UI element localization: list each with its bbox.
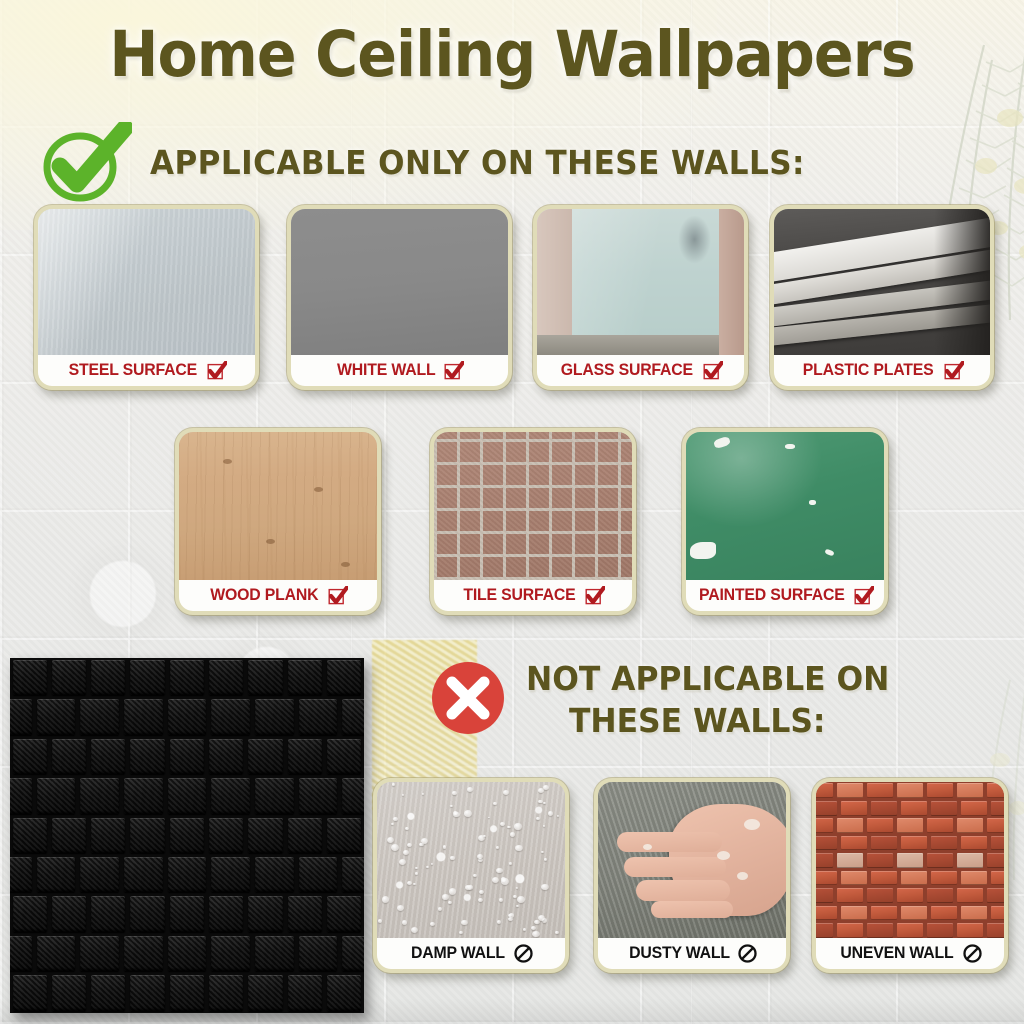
card-label-text: PAINTED SURFACE: [699, 586, 845, 605]
red-check-box-icon: [703, 361, 723, 380]
card-glass-surface[interactable]: GLASS SURFACE: [533, 205, 748, 390]
prohibition-icon: [738, 944, 757, 963]
card-label-text: PLASTIC PLATES: [803, 361, 934, 380]
card-label-bar: GLASS SURFACE: [537, 355, 744, 386]
card-photo-tile: [434, 432, 632, 580]
card-label-text: DUSTY WALL: [629, 944, 730, 963]
not-applicable-heading-label: NOT APPLICABLE ON THESE WALLS:: [526, 658, 889, 742]
card-photo-glass: [537, 209, 744, 355]
bottom-shadow: [0, 998, 1024, 1024]
card-label-text: GLASS SURFACE: [561, 361, 693, 380]
prohibition-icon: [514, 944, 533, 963]
not-applicable-heading: NOT APPLICABLE ON THESE WALLS:: [430, 658, 909, 742]
card-label-bar: PLASTIC PLATES: [774, 355, 990, 386]
card-label-text: UNEVEN WALL: [840, 944, 953, 963]
not-applicable-line-1: NOT APPLICABLE ON: [526, 659, 889, 698]
page-title: Home Ceiling Wallpapers: [36, 18, 988, 91]
card-label-text: WHITE WALL: [337, 361, 435, 380]
card-photo-dusty: [598, 782, 786, 938]
green-check-circle-icon: [40, 122, 132, 202]
not-applicable-line-2: THESE WALLS:: [505, 700, 889, 742]
card-photo-wood: [179, 432, 377, 580]
applicable-heading: APPLICABLE ONLY ON THESE WALLS:: [40, 122, 847, 202]
card-label-bar: DAMP WALL: [377, 938, 565, 969]
card-photo-white-wall: [291, 209, 508, 355]
card-tile-surface[interactable]: TILE SURFACE: [430, 428, 636, 615]
red-check-box-icon: [585, 586, 605, 605]
card-steel-surface[interactable]: STEEL SURFACE: [34, 205, 259, 390]
card-label-bar: DUSTY WALL: [598, 938, 786, 969]
card-label-bar: PAINTED SURFACE: [686, 580, 884, 611]
card-label-text: TILE SURFACE: [463, 586, 575, 605]
applicable-heading-label: APPLICABLE ONLY ON THESE WALLS:: [150, 143, 805, 182]
card-photo-brick: [816, 782, 1004, 938]
card-damp-wall[interactable]: DAMP WALL: [373, 778, 569, 973]
card-label-bar: UNEVEN WALL: [816, 938, 1004, 969]
card-label-bar: WHITE WALL: [291, 355, 508, 386]
card-plastic-plates[interactable]: PLASTIC PLATES: [770, 205, 994, 390]
card-photo-painted: [686, 432, 884, 580]
red-check-box-icon: [207, 361, 227, 380]
product-infographic: Home Ceiling Wallpapers APPLICABLE ONLY …: [0, 0, 1024, 1024]
card-label-text: WOOD PLANK: [210, 586, 318, 605]
card-label-text: DAMP WALL: [411, 944, 505, 963]
prohibition-icon: [963, 944, 982, 963]
card-label-bar: WOOD PLANK: [179, 580, 377, 611]
red-check-box-icon: [944, 361, 964, 380]
black-3d-brick-foam-panel: [10, 658, 364, 1013]
card-label-bar: TILE SURFACE: [434, 580, 632, 611]
card-white-wall[interactable]: WHITE WALL: [287, 205, 512, 390]
card-label-text: STEEL SURFACE: [69, 361, 197, 380]
card-photo-plastic: [774, 209, 990, 355]
card-wood-plank[interactable]: WOOD PLANK: [175, 428, 381, 615]
card-dusty-wall[interactable]: DUSTY WALL: [594, 778, 790, 973]
red-check-box-icon: [854, 586, 874, 605]
card-uneven-wall[interactable]: UNEVEN WALL: [812, 778, 1008, 973]
card-photo-steel: [38, 209, 255, 355]
card-label-bar: STEEL SURFACE: [38, 355, 255, 386]
card-painted-surface[interactable]: PAINTED SURFACE: [682, 428, 888, 615]
card-photo-damp: [377, 782, 565, 938]
red-check-box-icon: [328, 586, 348, 605]
red-check-box-icon: [444, 361, 464, 380]
red-x-circle-icon: [430, 660, 506, 736]
